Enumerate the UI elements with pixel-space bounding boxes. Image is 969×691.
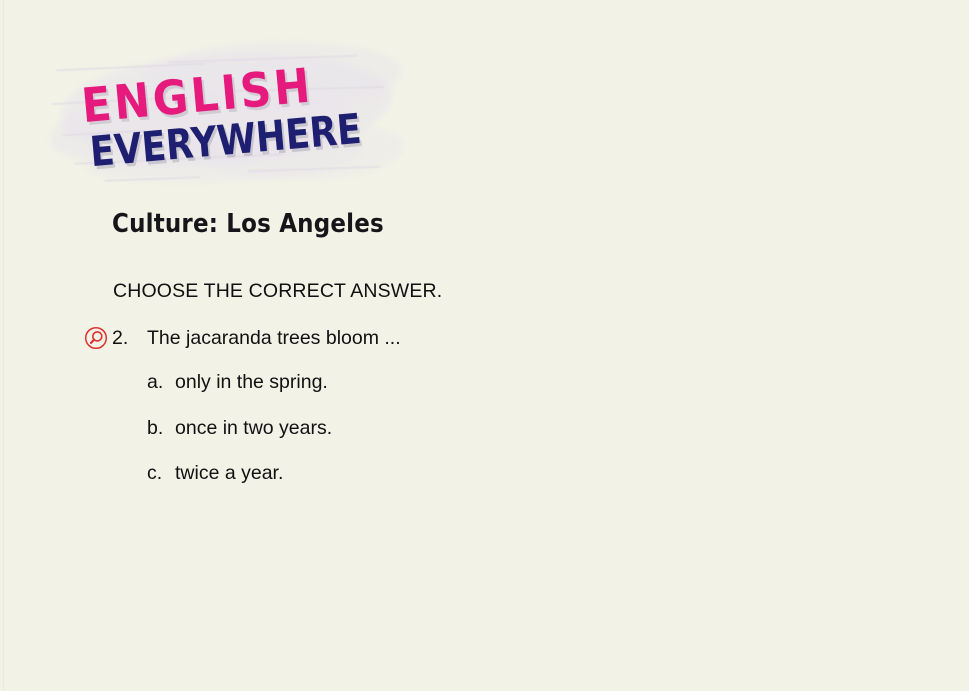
answer-option-text: only in the spring. xyxy=(175,371,328,394)
answer-option-letter: c. xyxy=(147,462,162,485)
answer-option-letter: a. xyxy=(147,371,163,394)
answer-option-text: twice a year. xyxy=(175,462,283,485)
answer-option-letter: b. xyxy=(147,417,163,440)
instruction-text: CHOOSE THE CORRECT ANSWER. xyxy=(113,280,442,303)
worksheet-body: Culture: Los Angeles CHOOSE THE CORRECT … xyxy=(0,0,969,691)
magnifier-icon[interactable] xyxy=(84,326,108,350)
question-row: 2. The jacaranda trees bloom ... xyxy=(80,325,900,357)
question-number: 2. xyxy=(112,327,128,350)
page-title: Culture: Los Angeles xyxy=(112,208,384,238)
answer-option-text: once in two years. xyxy=(175,417,332,440)
question-prompt: The jacaranda trees bloom ... xyxy=(147,327,401,350)
